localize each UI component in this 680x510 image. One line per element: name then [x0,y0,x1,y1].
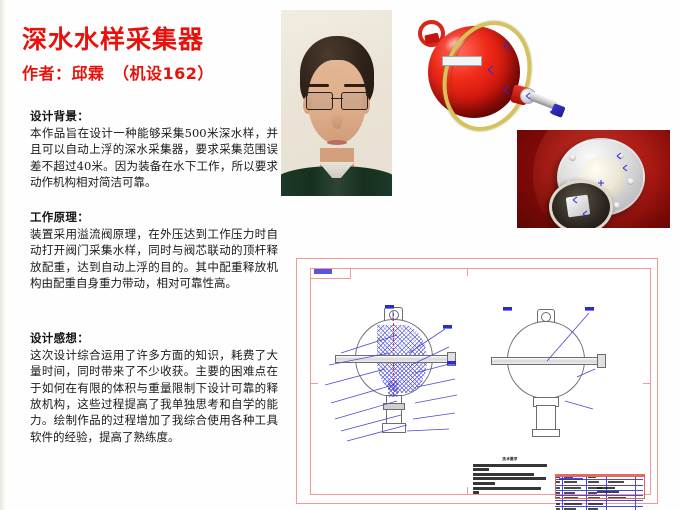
valve-base [532,429,560,437]
portrait-nose [331,114,342,129]
bom-cell [587,501,607,505]
notes-line [473,482,495,485]
section-heading: 设计感想： [30,330,278,346]
portrait-eyebrow-right [344,84,366,87]
assembly-drawing: 技术要求 [296,258,658,504]
frame-tick-bottom [467,487,468,495]
bom-cell-text [588,503,603,505]
valve-core [566,195,591,218]
outline-view [495,307,605,437]
glasses-lens-right [341,92,368,110]
bom-cell [555,501,563,505]
glasses-bridge [331,98,343,100]
notes-line [473,473,534,476]
glasses-lens-left [306,92,333,110]
frame-tick-right [643,383,651,384]
author-line: 作者：邱霖 （机设162） [22,60,214,84]
portrait-mouth [327,140,347,145]
portrait-glasses [306,92,368,109]
bom-cell [607,501,636,505]
page-title: 深水水样采集器 [22,27,204,53]
notes-line [473,491,479,494]
poster-slide: 深水水样采集器 作者：邱霖 （机设162） 设计背景： 本作品旨在设计一种能够采… [0,0,680,510]
portrait-eyebrow-left [307,84,329,87]
flange-bolt-hole [627,178,634,185]
valve-base [382,423,406,433]
notes-line [473,468,489,471]
left-edge-shading [0,0,6,510]
section-heading: 设计背景： [30,108,278,124]
flange-detail-render [517,130,670,228]
render-annotation-label [442,56,482,66]
section-body: 这次设计综合运用了许多方面的知识，耗费了大量时间，同时带来了不少收获。主要的困难… [30,347,278,445]
valve-tip [550,103,565,118]
notes-line [473,487,541,490]
author-portrait-photo [281,10,392,196]
section-view [337,303,457,443]
section-body: 装置采用溢流阀原理，在外压达到工作压力时自动打开阀门采集水样，同时与阀芯联动的顶… [30,226,278,291]
sphere-gold-band [429,9,545,142]
bom-cell-text [564,503,582,505]
bom-cell [563,501,587,505]
notes-line [473,464,547,467]
bom-cell-text [556,503,560,505]
technical-notes: 技术要求 [473,457,547,494]
notes-line [473,477,546,480]
section-design-reflection: 设计感想： 这次设计综合运用了许多方面的知识，耗费了大量时间，同时带来了不少收获… [30,330,278,445]
leader-lines-section [297,273,477,423]
flange-bolt-hole [569,154,576,161]
section-body: 本作品旨在设计一种能够采集500米深水样，并且可以自动上浮的深水采集器，要求采集… [30,125,278,190]
sphere-assembly-render [400,8,580,136]
leader-lines-outline [485,277,625,417]
flange-bolt-hole [617,152,624,159]
section-heading: 工作原理： [30,209,278,225]
section-design-background: 设计背景： 本作品旨在设计一种能够采集500米深水样，并且可以自动上浮的深水采集… [30,108,278,190]
section-working-principle: 工作原理： 装置采用溢流阀原理，在外压达到工作压力时自动打开阀门采集水样，同时与… [30,209,278,291]
flange-bolt-hole [613,202,620,209]
notes-title: 技术要求 [473,457,547,462]
